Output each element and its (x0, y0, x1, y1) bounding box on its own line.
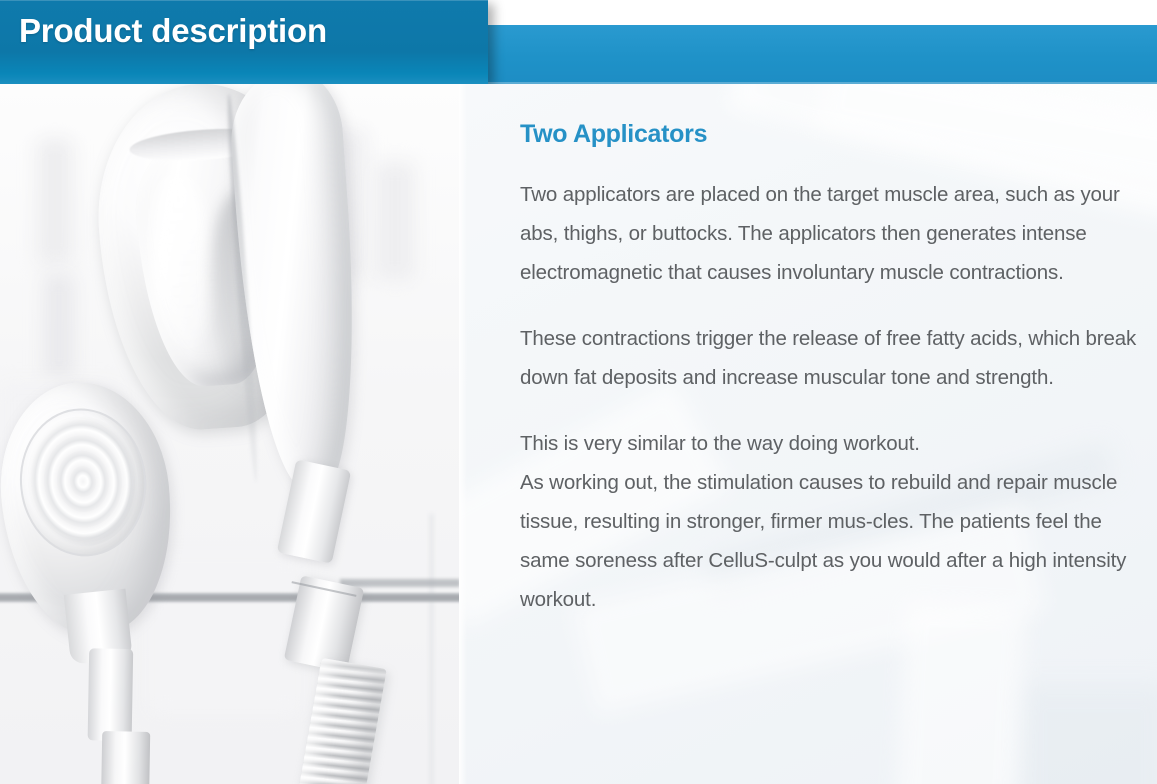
description-content: Two Applicators Two applicators are plac… (520, 121, 1150, 619)
small-applicator-neck (88, 648, 134, 741)
background-blur-shape (38, 139, 72, 264)
panel-left-edge (459, 84, 467, 784)
header-accent-bar (488, 25, 1157, 84)
description-paragraph-1: Two applicators are placed on the target… (520, 175, 1150, 292)
description-paragraph-2: These contractions trigger the release o… (520, 319, 1150, 397)
background-blur-shape (376, 162, 414, 280)
small-applicator-collar (101, 731, 150, 784)
background-blur-shape (44, 274, 74, 379)
section-heading: Two Applicators (520, 121, 1150, 149)
header: Product description (0, 0, 1157, 84)
description-panel: Two Applicators Two applicators are plac… (459, 84, 1157, 784)
page-title: Product description (19, 12, 327, 50)
corrugated-hose (285, 658, 386, 784)
large-applicator-grip (226, 84, 367, 493)
header-title-tab: Product description (0, 0, 488, 84)
product-description-page: Product description (0, 0, 1157, 784)
panel-texture-sheen (892, 601, 1026, 784)
description-paragraph-3: This is very similar to the way doing wo… (520, 424, 1150, 619)
panel-texture-shade (1019, 684, 1157, 784)
background-frame-line (430, 514, 433, 784)
background-rail (340, 579, 459, 587)
product-photo (0, 84, 459, 784)
